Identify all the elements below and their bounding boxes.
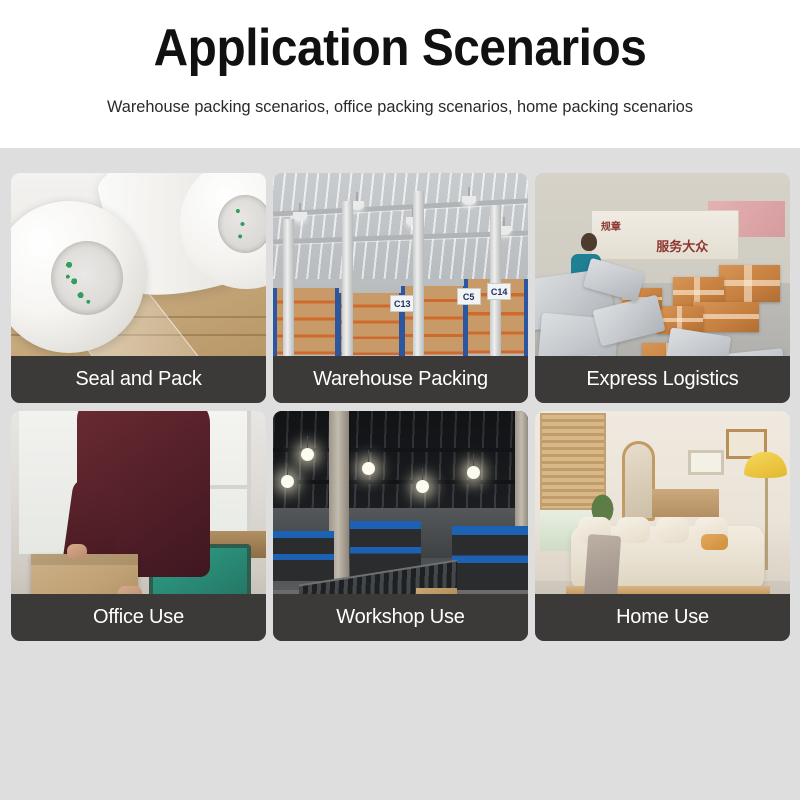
card-caption: Workshop Use xyxy=(273,594,528,641)
high-bay-light xyxy=(281,475,294,488)
application-scenarios-page: Application Scenarios Warehouse packing … xyxy=(0,0,800,800)
card-caption: Home Use xyxy=(535,594,790,641)
high-bay-light xyxy=(416,480,429,493)
support-post xyxy=(342,201,353,371)
card-caption: Office Use xyxy=(11,594,266,641)
page-subtitle: Warehouse packing scenarios, office pack… xyxy=(16,95,784,119)
scenario-row-1: Seal and Pack xyxy=(11,173,789,403)
wall-art-small xyxy=(688,450,724,475)
sofa-cushion xyxy=(617,517,650,543)
high-bay-light xyxy=(362,462,375,475)
scenario-card-express-logistics[interactable]: 规章 服务大众 xyxy=(535,173,790,403)
orange-pillow xyxy=(701,534,728,551)
throw-blanket xyxy=(584,534,622,601)
banner-text: 规章 xyxy=(601,218,621,233)
scenario-row-2: Office Use xyxy=(11,411,789,641)
tape-core-logo-right xyxy=(218,195,266,253)
aisle-sign: C13 xyxy=(390,295,414,312)
tape-core-logo xyxy=(51,241,123,315)
page-title: Application Scenarios xyxy=(32,18,768,78)
scenario-card-warehouse-packing[interactable]: C13 C5 C14 Warehouse Packing xyxy=(273,173,528,403)
banner-text: 服务大众 xyxy=(656,236,708,255)
aisle-sign: C5 xyxy=(457,288,481,305)
scenario-card-seal-and-pack[interactable]: Seal and Pack xyxy=(11,173,266,403)
card-caption: Warehouse Packing xyxy=(273,356,528,403)
worker-head xyxy=(581,233,597,251)
scenario-card-workshop-use[interactable]: Workshop Use xyxy=(273,411,528,641)
sideboard-cabinet xyxy=(652,489,718,517)
arch-mirror xyxy=(622,441,655,522)
page-header: Application Scenarios Warehouse packing … xyxy=(0,0,800,148)
person-hand xyxy=(67,544,87,559)
ceiling-lamp xyxy=(462,196,476,205)
scenario-card-office-use[interactable]: Office Use xyxy=(11,411,266,641)
blue-shelving xyxy=(452,526,529,590)
aisle-sign: C14 xyxy=(487,283,511,300)
roof-beam xyxy=(273,480,528,484)
floor-lamp-pole xyxy=(765,478,768,570)
card-caption: Express Logistics xyxy=(535,356,790,403)
workshop-roof xyxy=(273,411,528,512)
parcel-box xyxy=(719,265,780,302)
window-mullion xyxy=(247,411,251,531)
high-bay-light xyxy=(467,466,480,479)
card-caption: Seal and Pack xyxy=(11,356,266,403)
support-post xyxy=(413,191,424,370)
scenario-card-home-use[interactable]: Home Use xyxy=(535,411,790,641)
blue-shelving xyxy=(273,531,334,582)
wall-banner: 规章 服务大众 xyxy=(591,210,739,261)
floor-lamp-shade xyxy=(744,452,787,477)
high-bay-light xyxy=(301,448,314,461)
sofa-cushion xyxy=(656,517,689,543)
support-post xyxy=(283,219,294,371)
scenario-grid: Seal and Pack xyxy=(11,173,789,649)
